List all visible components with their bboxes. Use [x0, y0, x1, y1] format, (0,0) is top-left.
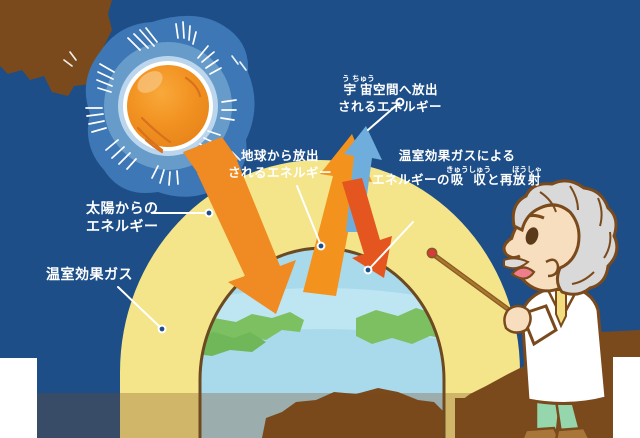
label-reabsorption-line2a: エネルギーの: [372, 172, 450, 187]
sun-disc: [127, 65, 209, 147]
hand: [504, 306, 530, 333]
ruby-uchuu-reading: う ちゅう: [342, 74, 375, 83]
label-earth-emission-line1: 地球から放出: [228, 148, 332, 165]
shoe-left: [522, 428, 560, 438]
ruby-housha: 放射ほうしゃ: [513, 172, 542, 187]
label-space-emission-rest: 空間へ放出: [373, 82, 438, 97]
ear: [546, 260, 558, 276]
ruby-uchuu-base: 宇宙: [342, 82, 375, 97]
corner-notch-left: [0, 358, 37, 438]
ruby-kyushu-reading: きゅうしゅう: [446, 165, 491, 174]
pointer-tip: [427, 248, 436, 257]
label-earth-emission: 地球から放出 されるエネルギー: [228, 148, 332, 181]
label-greenhouse-gas: 温室効果ガス: [46, 266, 133, 284]
ruby-kyushu: 吸収きゅうしゅう: [450, 172, 487, 187]
illustration-canvas: 太陽からの エネルギー 温室効果ガス 地球から放出 されるエネルギー 宇宙う ち…: [0, 0, 640, 438]
label-earth-emission-line2: されるエネルギー: [228, 165, 332, 182]
label-space-emission-line2: されるエネルギー: [338, 99, 442, 116]
ruby-housha-reading: ほうしゃ: [512, 165, 542, 174]
label-space-emission-line1: 宇宙う ちゅう空間へ放出: [338, 74, 442, 99]
label-reabsorption-line2: エネルギーの吸収きゅうしゅうと再放射ほうしゃ: [372, 165, 542, 189]
corner-notch-right: [613, 357, 640, 438]
label-sun-energy-line1: 太陽からの: [86, 200, 159, 218]
label-sun-energy: 太陽からの エネルギー: [86, 200, 159, 237]
shoe-right: [556, 428, 590, 438]
ruby-uchuu: 宇宙う ちゅう: [342, 82, 373, 97]
label-reabsorption: 温室効果ガスによる エネルギーの吸収きゅうしゅうと再放射ほうしゃ: [372, 148, 542, 188]
label-greenhouse-gas-line1: 温室効果ガス: [46, 266, 133, 284]
label-sun-energy-line2: エネルギー: [86, 218, 159, 236]
label-reabsorption-line1: 温室効果ガスによる: [372, 148, 542, 165]
label-space-emission: 宇宙う ちゅう空間へ放出 されるエネルギー: [338, 74, 442, 115]
